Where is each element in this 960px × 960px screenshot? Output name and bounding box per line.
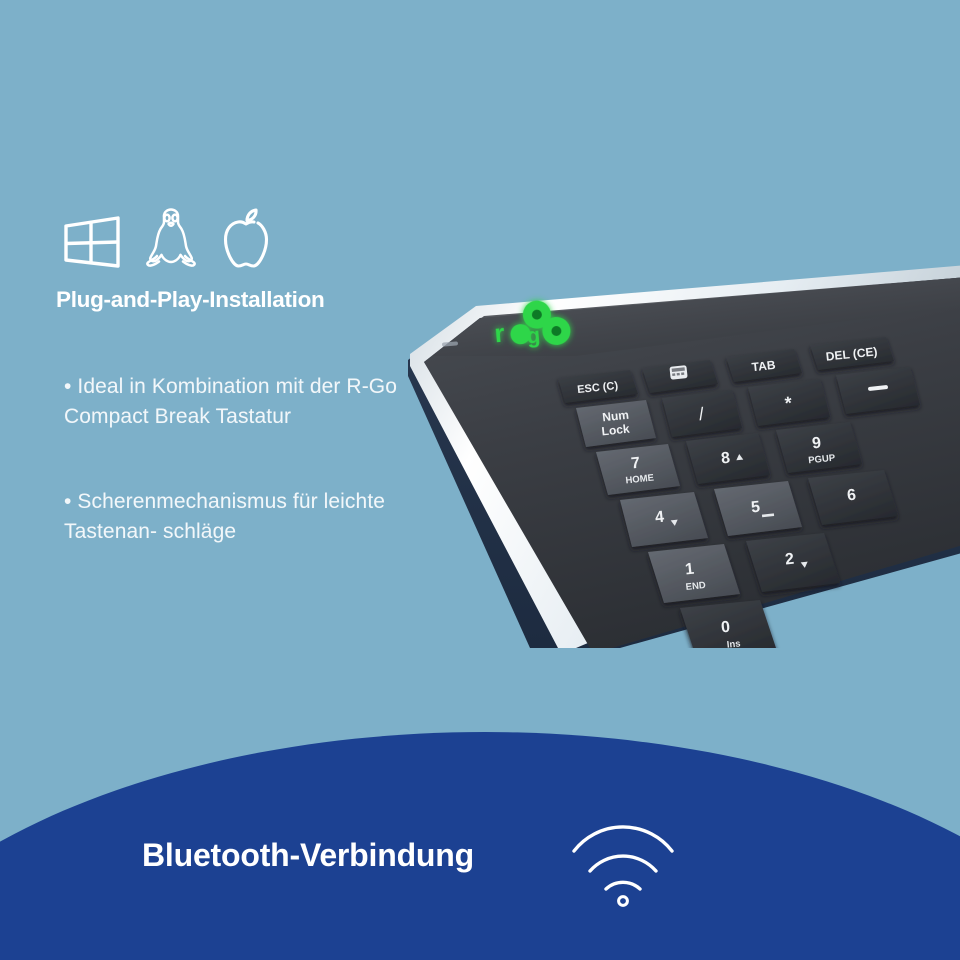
linux-tux-icon bbox=[144, 208, 198, 270]
key-9-label: 9 bbox=[811, 435, 822, 453]
bluetooth-banner: Bluetooth-Verbindung bbox=[0, 732, 960, 960]
key-4-label: 4 bbox=[654, 509, 665, 527]
promo-canvas: Plug-and-Play-Installation • Ideal in Ko… bbox=[0, 0, 960, 960]
key-0-sublabel: Ins bbox=[726, 638, 741, 648]
key-1-sublabel: END bbox=[685, 580, 706, 593]
key-5[interactable]: 5 bbox=[714, 481, 802, 536]
key-1-label: 1 bbox=[684, 561, 695, 579]
headline: Plug-and-Play-Installation bbox=[56, 287, 324, 313]
key-8-label: 8 bbox=[720, 450, 731, 468]
key-2-label: 2 bbox=[784, 551, 795, 569]
product-numeric-keypad: r g ESC (C) TAB bbox=[380, 248, 960, 648]
feature-bullet-1: • Ideal in Kombination mit der R-Go Comp… bbox=[64, 372, 404, 431]
key-2[interactable]: 2 bbox=[746, 533, 840, 592]
key-6[interactable]: 6 bbox=[808, 470, 898, 525]
key-numlock-label2: Lock bbox=[601, 422, 631, 439]
key-5-label: 5 bbox=[750, 499, 761, 517]
banner-title: Bluetooth-Verbindung bbox=[142, 837, 474, 874]
key-7[interactable]: 7 HOME bbox=[596, 444, 680, 495]
calculator-icon bbox=[669, 365, 687, 380]
key-6-label: 6 bbox=[846, 487, 857, 505]
windows-icon bbox=[62, 214, 122, 270]
key-0-label: 0 bbox=[720, 619, 731, 637]
feature-bullet-2: • Scherenmechanismus für leichte Tastena… bbox=[64, 487, 404, 546]
r-go-logo-text-go: g bbox=[526, 322, 542, 348]
key-1[interactable]: 1 END bbox=[648, 544, 740, 603]
key-4[interactable]: 4 bbox=[620, 492, 708, 547]
key-8[interactable]: 8 bbox=[686, 433, 770, 484]
key-7-label: 7 bbox=[630, 455, 641, 473]
os-compatibility-row bbox=[62, 198, 282, 270]
key-tab-label: TAB bbox=[751, 358, 776, 374]
apple-icon bbox=[220, 208, 272, 270]
key-9[interactable]: 9 PGUP bbox=[776, 422, 862, 473]
wifi-signal-icon bbox=[568, 807, 678, 907]
